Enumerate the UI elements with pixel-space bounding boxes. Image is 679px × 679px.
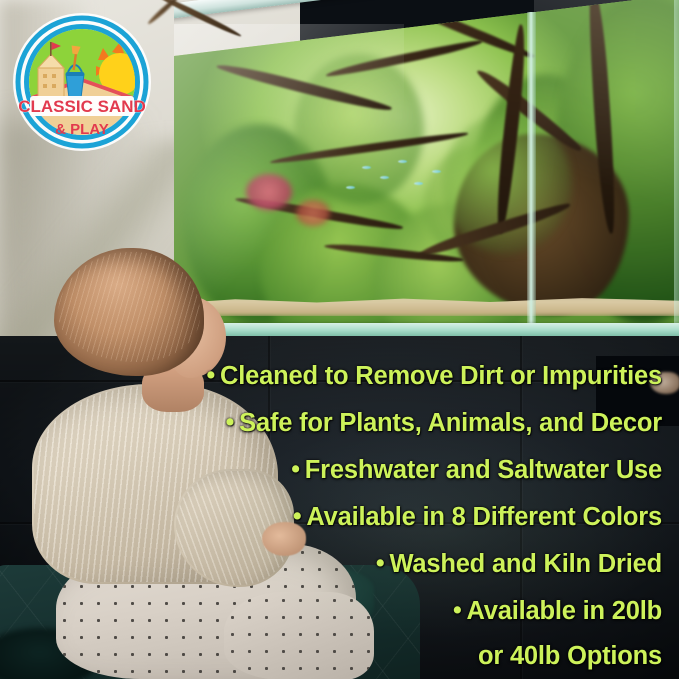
bullet-icon: • [206, 352, 215, 398]
aquarium-silicone-seam [527, 12, 536, 342]
brand-logo: CLASSIC SAND & PLAY [8, 12, 156, 154]
logo-name-line2: & PLAY [55, 121, 109, 138]
feature-bullet-3-text: Freshwater and Saltwater Use [305, 456, 662, 484]
feature-bullet-6: •Available in 20lb [0, 587, 662, 634]
bullet-icon: • [453, 587, 462, 633]
red-aquatic-plant [296, 200, 330, 226]
aquatic-plant [294, 54, 424, 204]
feature-bullet-4-text: Available in 8 Different Colors [306, 503, 662, 531]
fish [346, 186, 355, 189]
bullet-icon: • [226, 399, 235, 445]
feature-bullet-2-text: Safe for Plants, Animals, and Decor [239, 409, 662, 437]
feature-bullet-6-text: Available in 20lb [467, 597, 662, 625]
feature-bullet-list: •Cleaned to Remove Dirt or Impurities •S… [0, 352, 662, 678]
feature-bullet-5-text: Washed and Kiln Dried [389, 550, 662, 578]
fish [362, 166, 371, 169]
bullet-icon: • [376, 540, 385, 586]
fish [432, 170, 441, 173]
bullet-icon: • [293, 493, 302, 539]
bullet-icon: • [291, 446, 300, 492]
fish [398, 160, 407, 163]
product-lifestyle-image: CLASSIC SAND & PLAY •Cleaned to Remove D… [0, 0, 679, 679]
feature-bullet-1-text: Cleaned to Remove Dirt or Impurities [220, 362, 662, 390]
feature-bullet-3: •Freshwater and Saltwater Use [0, 446, 662, 493]
logo-name-line1: CLASSIC SAND [18, 97, 146, 116]
red-aquatic-plant [246, 174, 292, 210]
fish [380, 176, 389, 179]
feature-bullet-6-continuation: or 40lb Options [0, 634, 662, 678]
classic-sand-and-play-logo-icon: CLASSIC SAND & PLAY [8, 12, 156, 154]
aquarium-right-glass-panel [674, 0, 679, 342]
feature-bullet-5: •Washed and Kiln Dried [0, 540, 662, 587]
feature-bullet-4: •Available in 8 Different Colors [0, 493, 662, 540]
feature-bullet-2: •Safe for Plants, Animals, and Decor [0, 399, 662, 446]
feature-bullet-1: •Cleaned to Remove Dirt or Impurities [0, 352, 662, 399]
fish [414, 182, 423, 185]
toddler-hair-strands [58, 252, 200, 362]
